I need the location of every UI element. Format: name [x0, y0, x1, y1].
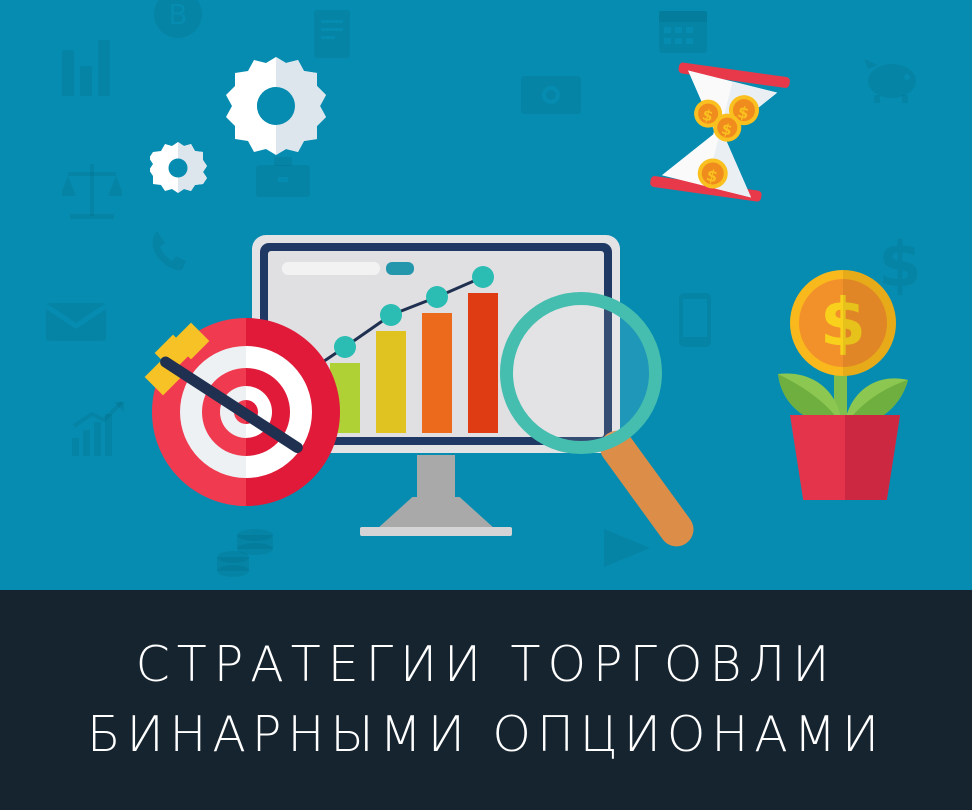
money-plant: $: [768, 270, 958, 500]
title-footer: СТРАТЕГИИ ТОРГОВЛИ БИНАРНЫМИ ОПЦИОНАМИ: [0, 590, 972, 810]
phone-icon: [148, 228, 192, 276]
banknote-icon: [520, 75, 582, 115]
growth-chart-icon: [70, 400, 128, 456]
envelope-icon: [45, 300, 107, 344]
calendar-icon: [658, 5, 708, 55]
scales-icon: [62, 160, 122, 222]
chart-marker: [472, 266, 494, 288]
monitor-foot: [377, 497, 495, 529]
document-icon: [312, 8, 352, 60]
svg-text:B: B: [168, 0, 187, 31]
gear-small-icon: [150, 140, 207, 197]
plant-pot-shade: [845, 415, 900, 500]
chart-marker: [426, 286, 448, 308]
gear-large-icon: [218, 55, 334, 171]
title-line-2: БИНАРНЫМИ ОПЦИОНАМИ: [87, 700, 885, 770]
hourglass-with-coins: $ $ $ $: [645, 50, 795, 215]
bar-chart-icon: [60, 40, 122, 98]
plant-coin: $: [790, 270, 896, 376]
magnifier-ring: [500, 292, 662, 454]
chart-marker: [380, 304, 402, 326]
magnifying-glass: [500, 292, 700, 562]
dartboard-target: [152, 318, 340, 506]
banner-root: B: [0, 0, 972, 810]
piggy-bank-icon: [862, 55, 922, 103]
monitor-base: [360, 527, 512, 536]
title-line-1: СТРАТЕГИИ ТОРГОВЛИ: [136, 630, 837, 700]
bitcoin-icon: B: [152, 0, 204, 40]
illustration-stage: B: [0, 0, 972, 590]
